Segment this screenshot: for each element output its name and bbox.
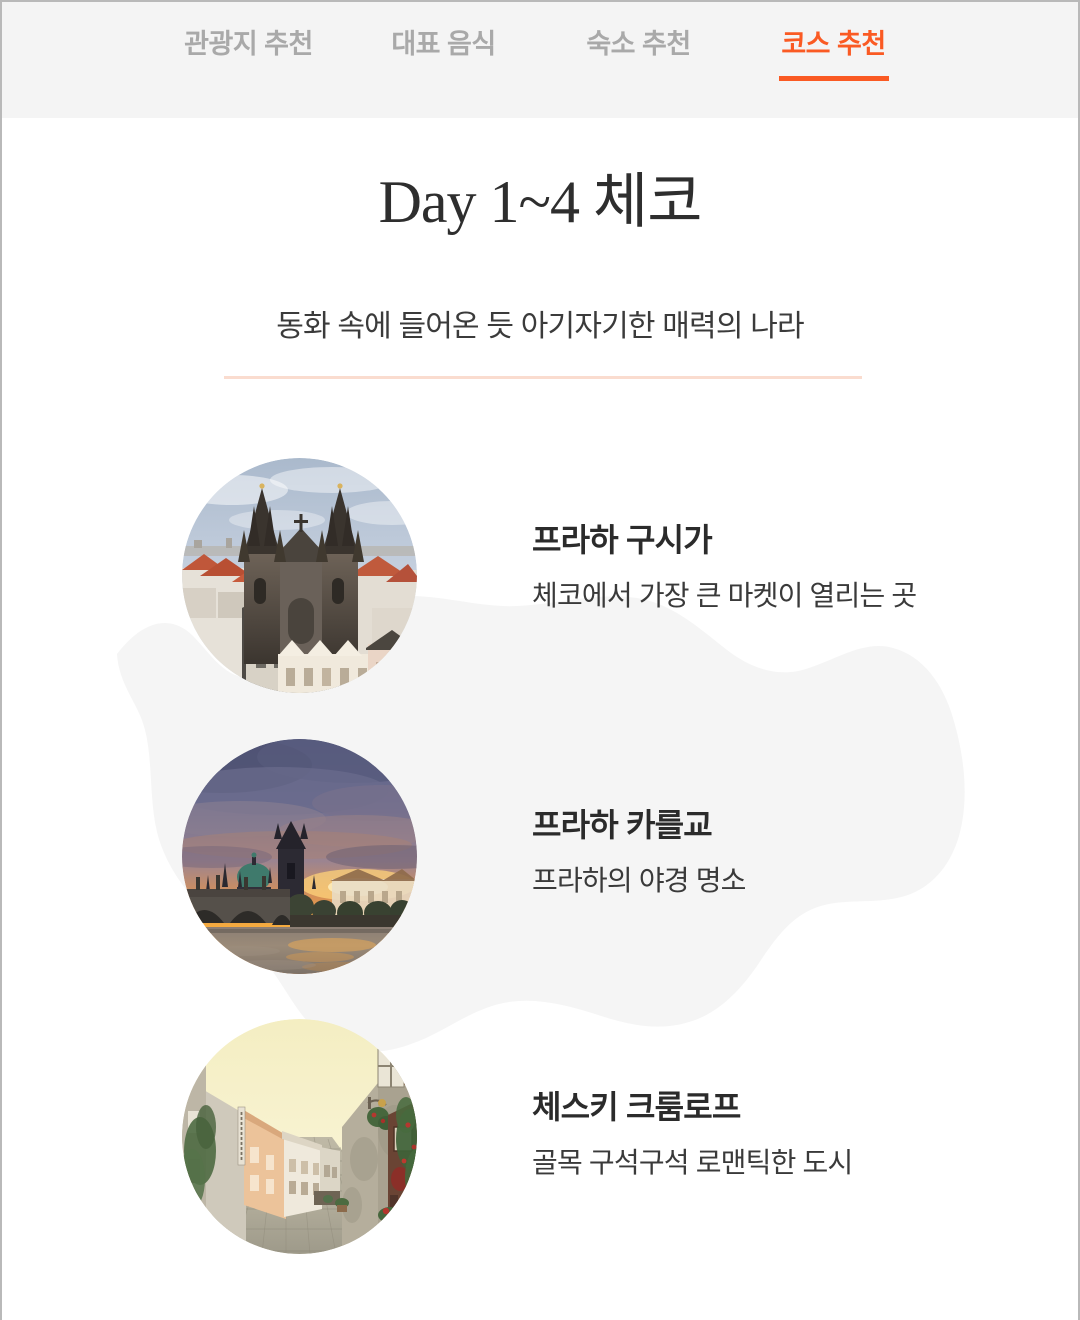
tab-sightseeing[interactable]: 관광지 추천 bbox=[151, 2, 346, 80]
place-description: 체코에서 가장 큰 마켓이 열리는 곳 bbox=[532, 582, 916, 610]
place-text: 프라하 구시가 체코에서 가장 큰 마켓이 열리는 곳 bbox=[532, 524, 916, 610]
place-text: 프라하 카를교 프라하의 야경 명소 bbox=[532, 809, 746, 895]
tab-course[interactable]: 코스 추천 bbox=[736, 2, 931, 80]
page-subtitle: 동화 속에 들어온 듯 아기자기한 매력의 나라 bbox=[2, 312, 1078, 342]
place-description: 프라하의 야경 명소 bbox=[532, 867, 746, 895]
place-text: 체스키 크룸로프 골목 구석구석 로맨틱한 도시 bbox=[532, 1091, 852, 1177]
list-item[interactable]: 프라하 구시가 체코에서 가장 큰 마켓이 열리는 곳 bbox=[2, 434, 1078, 716]
tab-label: 숙소 추천 bbox=[586, 31, 690, 58]
tab-lodging[interactable]: 숙소 추천 bbox=[541, 2, 736, 80]
category-tabbar: 관광지 추천 대표 음식 숙소 추천 코스 추천 bbox=[2, 2, 1078, 118]
place-photo-cesky-krumlov[interactable] bbox=[182, 1019, 417, 1254]
place-name: 프라하 카를교 bbox=[532, 809, 746, 841]
place-name: 체스키 크룸로프 bbox=[532, 1091, 852, 1123]
page-frame: 관광지 추천 대표 음식 숙소 추천 코스 추천 Day 1~4 체코 동화 속… bbox=[0, 0, 1080, 1320]
header-divider bbox=[224, 376, 862, 379]
list-item[interactable]: 체스키 크룸로프 골목 구석구석 로맨틱한 도시 bbox=[2, 996, 1078, 1276]
place-list: 프라하 구시가 체코에서 가장 큰 마켓이 열리는 곳 bbox=[2, 434, 1078, 1276]
tabbar-inner: 관광지 추천 대표 음식 숙소 추천 코스 추천 bbox=[149, 2, 931, 80]
main-content: Day 1~4 체코 동화 속에 들어온 듯 아기자기한 매력의 나라 bbox=[2, 118, 1078, 1320]
page-title: Day 1~4 체코 bbox=[2, 172, 1078, 232]
list-item[interactable]: 프라하 카를교 프라하의 야경 명소 bbox=[2, 716, 1078, 996]
tab-food[interactable]: 대표 음식 bbox=[346, 2, 541, 80]
tab-label: 코스 추천 bbox=[781, 31, 885, 58]
place-photo-prague-old-town[interactable] bbox=[182, 458, 417, 693]
place-description: 골목 구석구석 로맨틱한 도시 bbox=[532, 1149, 852, 1177]
place-name: 프라하 구시가 bbox=[532, 524, 916, 556]
active-tab-underline bbox=[779, 76, 889, 81]
place-photo-charles-bridge[interactable] bbox=[182, 739, 417, 974]
tab-label: 관광지 추천 bbox=[184, 31, 313, 58]
tab-label: 대표 음식 bbox=[391, 31, 495, 58]
